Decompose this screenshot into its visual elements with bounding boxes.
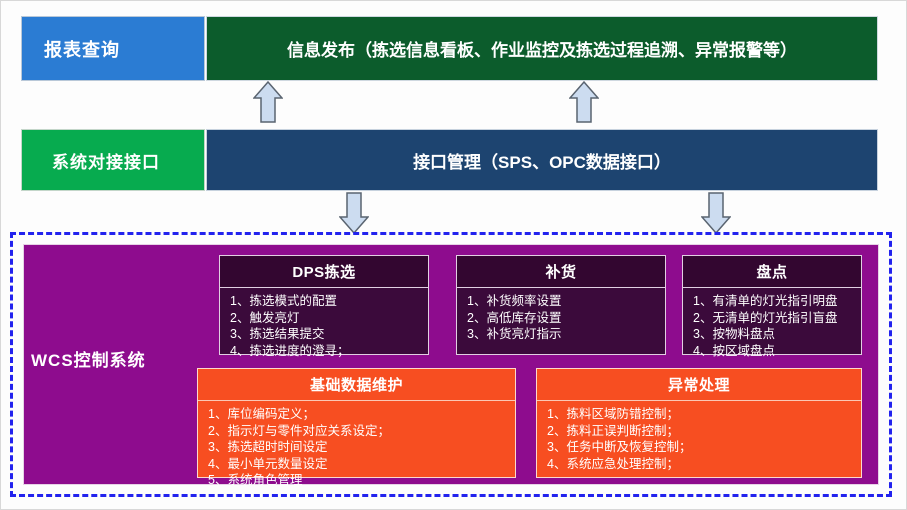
card-title: 盘点	[683, 256, 861, 288]
list-item: 2、无清单的灯光指引盲盘	[693, 310, 861, 327]
system-interface-text: 系统对接接口	[52, 148, 160, 173]
list-item: 2、高低库存设置	[467, 310, 665, 327]
list-item: 1、拣料区域防错控制；	[547, 406, 861, 423]
list-item: 2、拣料正误判断控制；	[547, 423, 861, 440]
card-title: DPS拣选	[220, 256, 428, 288]
card-base-data-maintenance: 基础数据维护 1、库位编码定义； 2、指示灯与零件对应关系设定； 3、拣选超时时…	[197, 368, 516, 478]
list-item: 1、有清单的灯光指引明盘	[693, 293, 861, 310]
card-title: 补货	[457, 256, 665, 288]
information-publish-box: 信息发布（拣选信息看板、作业监控及拣选过程追溯、异常报警等）	[206, 16, 878, 81]
interface-management-text: 接口管理（SPS、OPC数据接口）	[413, 148, 671, 173]
card-body: 1、库位编码定义； 2、指示灯与零件对应关系设定； 3、拣选超时时间设定 4、最…	[198, 401, 515, 493]
list-item: 3、按物料盘点	[693, 326, 861, 343]
list-item: 4、最小单元数量设定	[208, 456, 515, 473]
arrow-up-icon	[253, 81, 283, 123]
card-stocktaking: 盘点 1、有清单的灯光指引明盘 2、无清单的灯光指引盲盘 3、按物料盘点 4、按…	[682, 255, 862, 355]
diagram-canvas: 报表查询 信息发布（拣选信息看板、作业监控及拣选过程追溯、异常报警等） 系统对接…	[0, 0, 907, 510]
card-title: 基础数据维护	[198, 369, 515, 401]
card-replenishment: 补货 1、补货频率设置 2、高低库存设置 3、补货亮灯指示	[456, 255, 666, 355]
report-query-label: 报表查询	[21, 16, 205, 81]
list-item: 3、补货亮灯指示	[467, 326, 665, 343]
interface-management-box: 接口管理（SPS、OPC数据接口）	[206, 129, 878, 191]
card-body: 1、补货频率设置 2、高低库存设置 3、补货亮灯指示	[457, 288, 665, 347]
list-item: 1、拣选模式的配置	[230, 293, 428, 310]
card-body: 1、有清单的灯光指引明盘 2、无清单的灯光指引盲盘 3、按物料盘点 4、按区域盘…	[683, 288, 861, 363]
card-dps-picking: DPS拣选 1、拣选模式的配置 2、触发亮灯 3、拣选结果提交 4、拣选进度的澄…	[219, 255, 429, 355]
list-item: 3、拣选结果提交	[230, 326, 428, 343]
report-query-text: 报表查询	[44, 36, 120, 62]
list-item: 4、按区域盘点	[693, 343, 861, 360]
list-item: 2、指示灯与零件对应关系设定；	[208, 423, 515, 440]
list-item: 5、系统角色管理	[208, 472, 515, 489]
card-body: 1、拣料区域防错控制； 2、拣料正误判断控制； 3、任务中断及恢复控制； 4、系…	[537, 401, 861, 476]
card-title: 异常处理	[537, 369, 861, 401]
list-item: 4、系统应急处理控制；	[547, 456, 861, 473]
system-interface-label: 系统对接接口	[21, 129, 205, 191]
arrow-down-icon	[701, 192, 731, 234]
list-item: 3、拣选超时时间设定	[208, 439, 515, 456]
arrow-down-icon	[339, 192, 369, 234]
card-body: 1、拣选模式的配置 2、触发亮灯 3、拣选结果提交 4、拣选进度的澄寻；	[220, 288, 428, 363]
list-item: 2、触发亮灯	[230, 310, 428, 327]
arrow-up-icon	[569, 81, 599, 123]
wcs-control-system-label: WCS控制系统	[31, 346, 191, 371]
list-item: 1、补货频率设置	[467, 293, 665, 310]
card-exception-handling: 异常处理 1、拣料区域防错控制； 2、拣料正误判断控制； 3、任务中断及恢复控制…	[536, 368, 862, 478]
list-item: 4、拣选进度的澄寻；	[230, 343, 428, 360]
list-item: 3、任务中断及恢复控制；	[547, 439, 861, 456]
information-publish-text: 信息发布（拣选信息看板、作业监控及拣选过程追溯、异常报警等）	[287, 36, 797, 61]
list-item: 1、库位编码定义；	[208, 406, 515, 423]
